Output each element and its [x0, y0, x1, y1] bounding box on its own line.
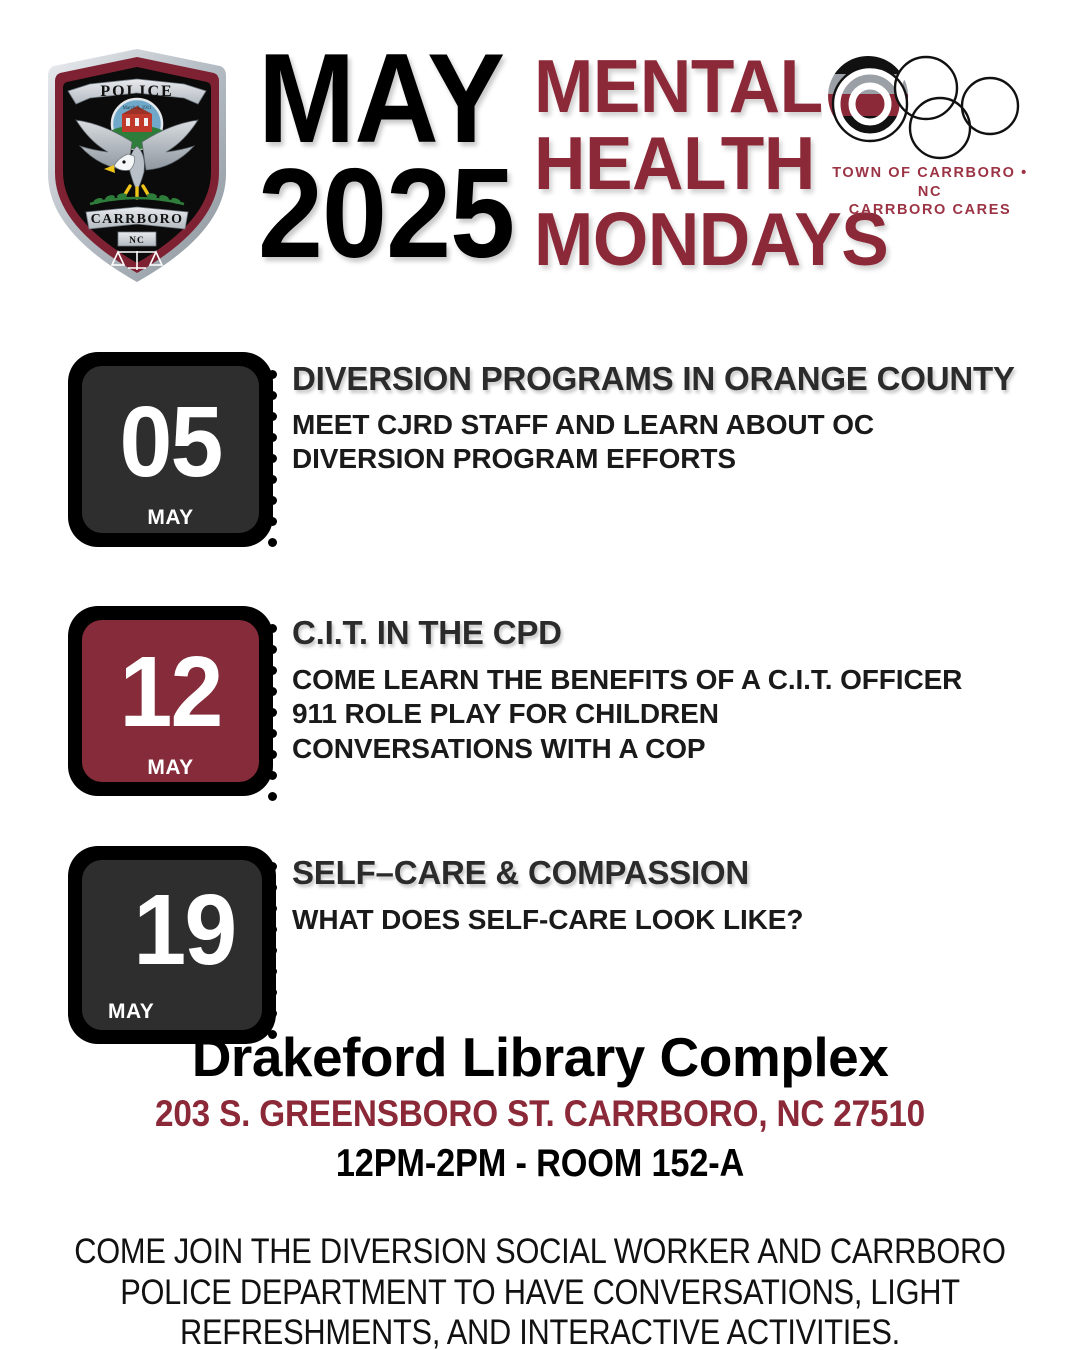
svg-text:POLICE: POLICE [100, 83, 173, 100]
event-line: 911 ROLE PLAY FOR CHILDREN [292, 697, 1032, 732]
event-row: 12 MAY C.I.T. IN THE CPD COME LEARN THE … [0, 574, 1080, 798]
venue-address: 203 S. GREENSBORO ST. CARRBORO, NC 27510 [54, 1091, 1026, 1136]
header-subtitle-line-2: HEALTH [534, 125, 819, 202]
footer-line-3: REFRESHMENTS, AND INTERACTIVE ACTIVITIES… [65, 1313, 1015, 1350]
header-subtitle: MENTAL HEALTH MONDAYS [534, 48, 834, 278]
event-text-block: DIVERSION PROGRAMS IN ORANGE COUNTY MEET… [292, 362, 1032, 477]
header-year: 2025 [258, 159, 488, 268]
date-day: 05 [86, 392, 254, 492]
venue-time-room: 12PM-2PM - ROOM 152-A [65, 1141, 1015, 1188]
header-subtitle-line-1: MENTAL [534, 48, 819, 125]
date-card-may-12[interactable]: 12 MAY [68, 606, 273, 796]
svg-text:CARRBORO: CARRBORO [91, 212, 184, 227]
date-card-may-19[interactable]: 19 MAY [68, 846, 276, 1044]
date-month: MAY [82, 756, 259, 780]
dotted-divider [268, 862, 277, 1039]
town-tagline-line-1: TOWN OF CARRBORO • NC [822, 164, 1038, 201]
venue-name: Drakeford Library Complex [0, 1028, 1080, 1087]
venue-block: Drakeford Library Complex 203 S. GREENSB… [0, 1028, 1080, 1187]
date-card-inner: 05 MAY [82, 366, 259, 533]
date-card-may-05[interactable]: 05 MAY [68, 352, 273, 547]
carrboro-police-badge-icon: POLICE March 3, 1911 [42, 46, 232, 286]
date-card-inner: 19 MAY [82, 860, 262, 1030]
date-day: 19 [87, 880, 258, 980]
date-month: MAY [82, 506, 259, 530]
footer-block: COME JOIN THE DIVERSION SOCIAL WORKER AN… [0, 1232, 1080, 1350]
header-subtitle-line-3: MONDAYS [534, 201, 819, 278]
event-title: DIVERSION PROGRAMS IN ORANGE COUNTY [292, 362, 1032, 397]
event-row: 05 MAY DIVERSION PROGRAMS IN ORANGE COUN… [0, 352, 1080, 574]
event-text-block: SELF–CARE & COMPASSION WHAT DOES SELF-CA… [292, 856, 1032, 937]
date-card-inner: 12 MAY [82, 620, 259, 782]
header-month: MAY [258, 44, 488, 153]
svg-text:March 3, 1911: March 3, 1911 [122, 106, 152, 111]
event-line: COME LEARN THE BENEFITS OF A C.I.T. OFFI… [292, 663, 1032, 698]
footer-line-1: COME JOIN THE DIVERSION SOCIAL WORKER AN… [65, 1232, 1015, 1273]
svg-text:NC: NC [129, 236, 145, 246]
footer-line-2: POLICE DEPARTMENT TO HAVE CONVERSATIONS,… [65, 1273, 1015, 1314]
event-line: WHAT DOES SELF-CARE LOOK LIKE? [292, 903, 1032, 938]
event-text-block: C.I.T. IN THE CPD COME LEARN THE BENEFIT… [292, 616, 1032, 767]
event-line: DIVERSION PROGRAM EFFORTS [292, 442, 1032, 477]
event-row: 19 MAY SELF–CARE & COMPASSION WHAT DOES … [0, 798, 1080, 1028]
event-list: 05 MAY DIVERSION PROGRAMS IN ORANGE COUN… [0, 352, 1080, 1028]
event-title: C.I.T. IN THE CPD [292, 616, 1032, 651]
event-line: MEET CJRD STAFF AND LEARN ABOUT OC [292, 408, 1032, 443]
date-month: MAY [82, 1000, 262, 1024]
town-logo-tagline: TOWN OF CARRBORO • NC CARRBORO CARES [822, 164, 1038, 220]
date-day: 12 [86, 642, 254, 742]
dotted-divider [268, 370, 277, 547]
flyer-header: POLICE March 3, 1911 [0, 0, 1080, 330]
flyer-canvas: POLICE March 3, 1911 [0, 0, 1080, 1350]
town-tagline-line-2: CARRBORO CARES [822, 201, 1038, 220]
dotted-divider [268, 624, 277, 801]
header-month-year: MAY 2025 [258, 44, 508, 268]
event-line: CONVERSATIONS WITH A COP [292, 732, 1032, 767]
event-title: SELF–CARE & COMPASSION [292, 856, 1032, 891]
